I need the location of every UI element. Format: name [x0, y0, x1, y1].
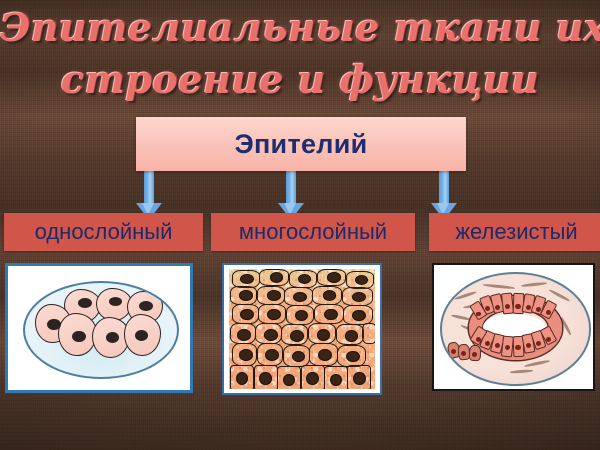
image-canvas	[434, 265, 593, 389]
image-canvas	[8, 266, 190, 390]
branch-box-zhelezisty: железистый	[429, 213, 600, 251]
image-stratified-epithelium	[222, 263, 382, 395]
image-canvas	[224, 265, 380, 393]
arrow-shaft	[144, 170, 154, 204]
title-line-2: строение и функции	[0, 54, 600, 106]
epithelium-oval	[23, 281, 180, 379]
slide-title: Эпителиальные ткани их строение и функци…	[0, 2, 600, 106]
image-glandular-epithelium	[432, 263, 595, 391]
epithelium-cell-field	[229, 269, 376, 389]
image-simple-squamous-epithelium	[5, 263, 193, 393]
arrow-shaft	[439, 170, 449, 204]
title-line-1: Эпителиальные ткани их	[0, 2, 600, 54]
branch-label-zhelezisty: железистый	[455, 219, 577, 245]
branch-label-odnosloyny: однослойный	[35, 219, 173, 245]
arrow-shaft	[286, 170, 296, 204]
branch-box-odnosloyny: однослойный	[4, 213, 203, 251]
gland-cross-section	[440, 272, 590, 385]
main-concept-box: Эпителий	[136, 117, 466, 171]
branch-box-mnogosloyny: многослойный	[211, 213, 415, 251]
branch-label-mnogosloyny: многослойный	[239, 219, 387, 245]
main-concept-label: Эпителий	[234, 129, 367, 160]
presentation-slide: Эпителиальные ткани их строение и функци…	[0, 0, 600, 450]
